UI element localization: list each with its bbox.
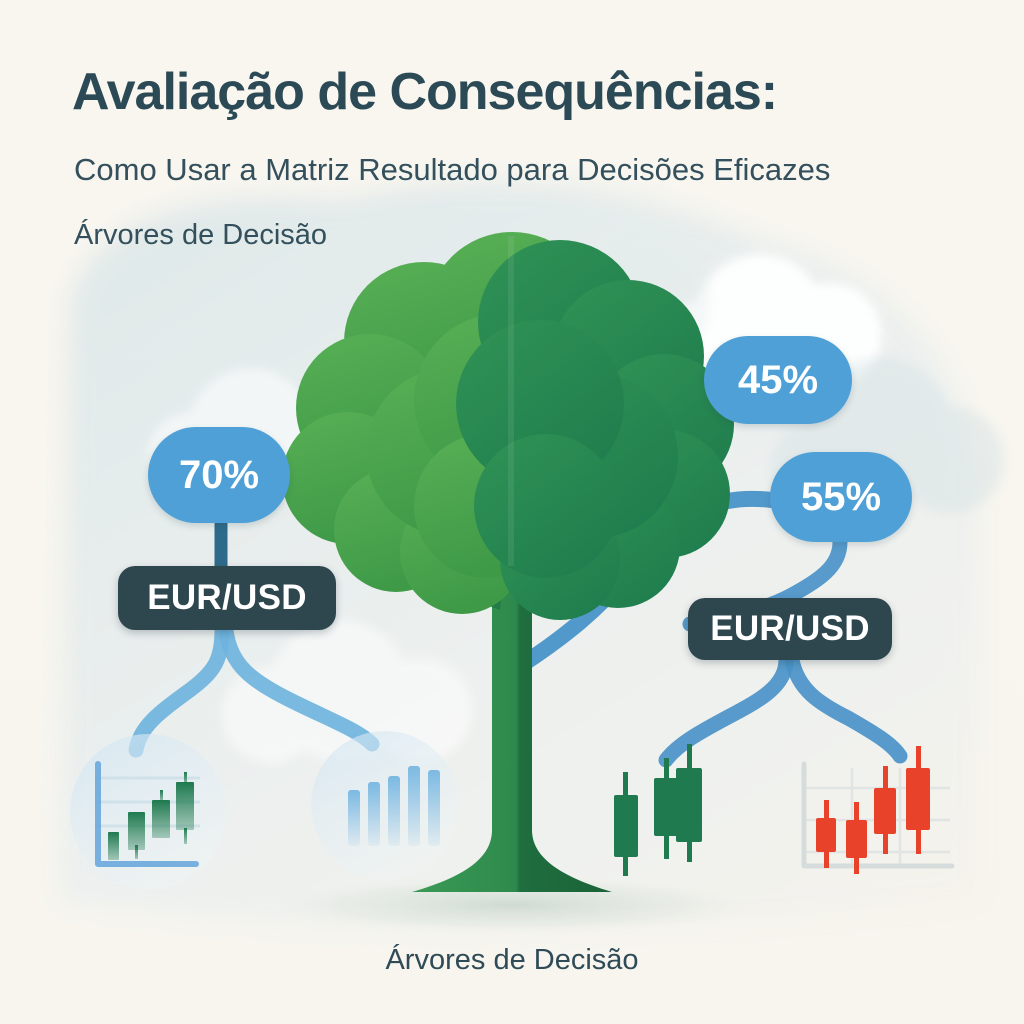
instrument-node-left[interactable]: EUR/USD [118, 566, 336, 630]
instrument-node-right[interactable]: EUR/USD [688, 598, 892, 660]
page-subtitle: Como Usar a Matriz Resultado para Decisõ… [74, 152, 830, 188]
probability-badge-45[interactable]: 45% [704, 336, 852, 424]
footer-caption: Árvores de Decisão [0, 944, 1024, 977]
probability-badge-55[interactable]: 55% [770, 452, 912, 542]
page-title: Avaliação de Consequências: [72, 62, 777, 122]
bar-chart-icon [311, 731, 459, 879]
candlestick-chart-icon-left [70, 734, 226, 890]
probability-badge-70[interactable]: 70% [148, 427, 290, 523]
infographic-canvas: Avaliação de Consequências: Como Usar a … [0, 0, 1024, 1024]
page-kicker: Árvores de Decisão [74, 219, 327, 252]
